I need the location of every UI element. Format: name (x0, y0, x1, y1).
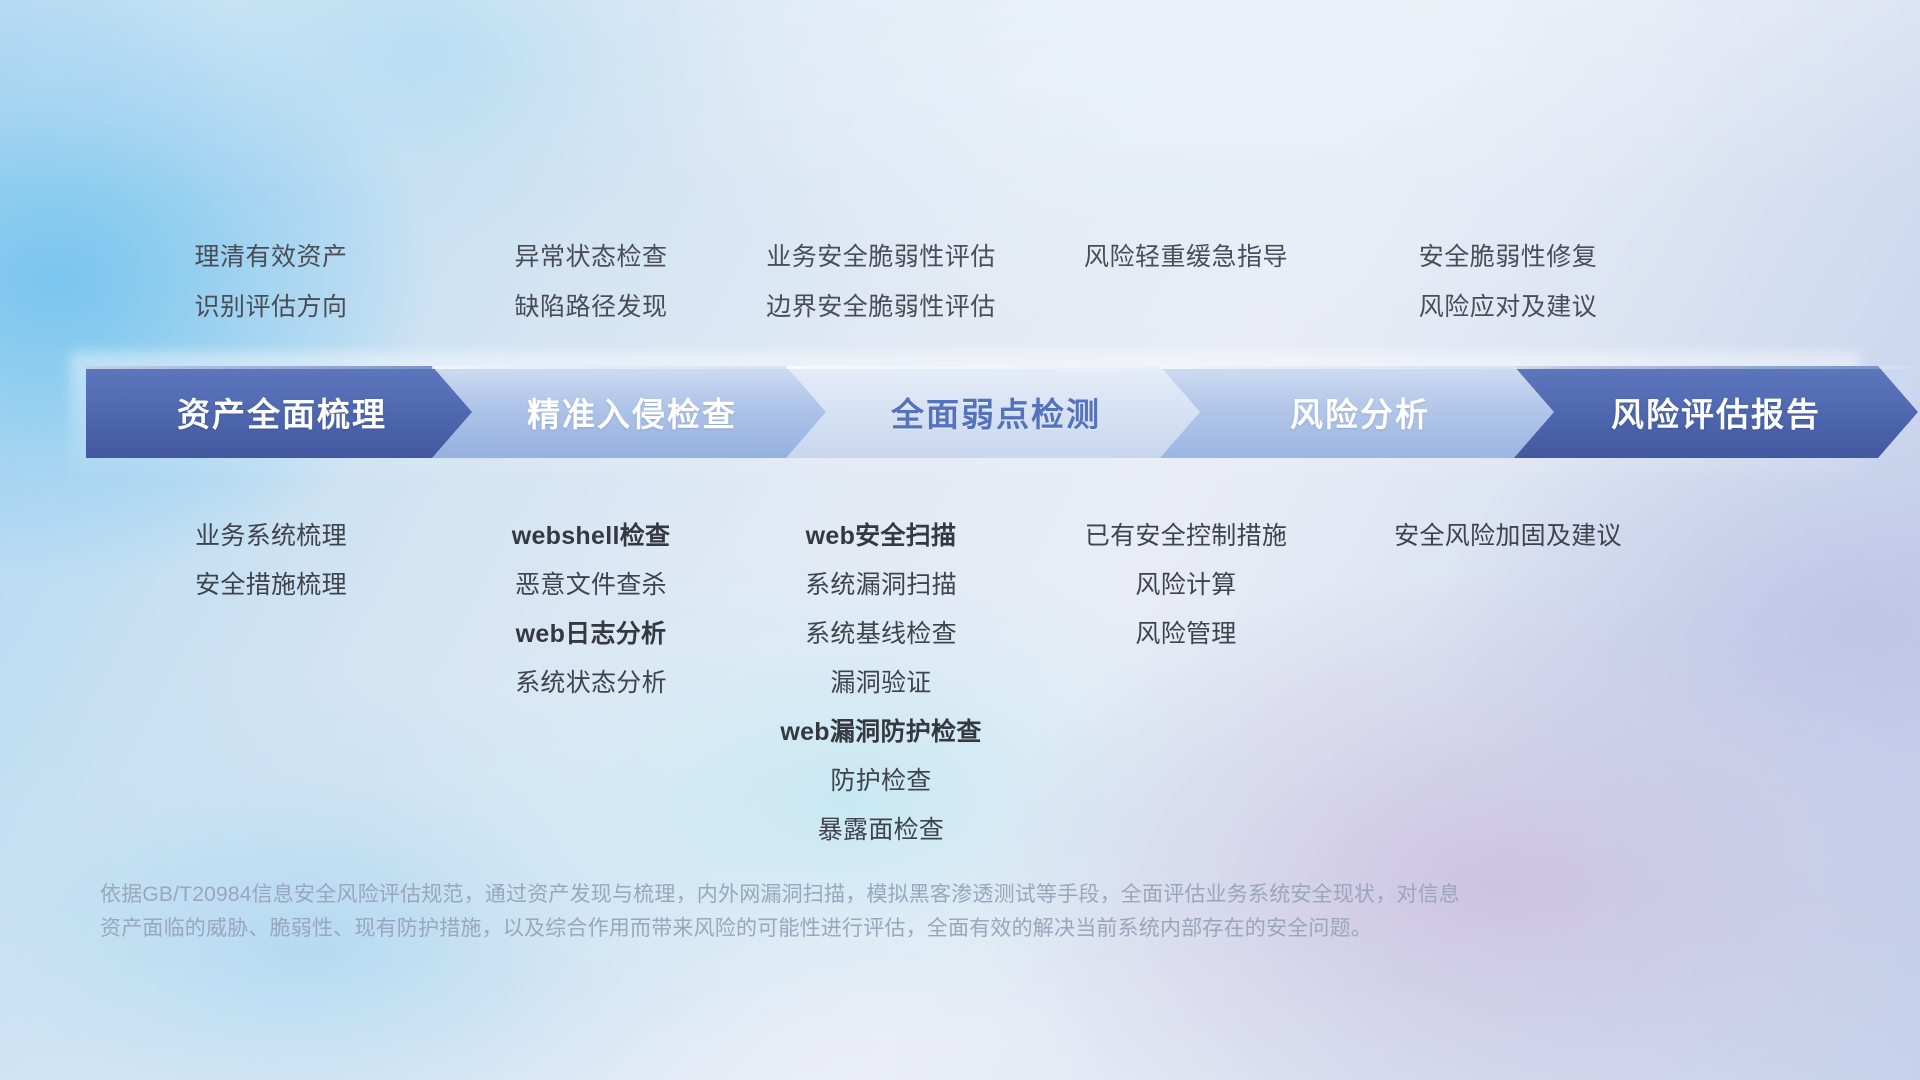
footer-line-2: 资产面临的威胁、脆弱性、现有防护措施，以及综合作用而带来风险的可能性进行评估，全… (100, 912, 1760, 946)
stage-arrow-label: 风险分析 (1290, 388, 1430, 436)
output-label: 安全风险加固及建议 (1346, 512, 1670, 561)
stage-arrow-1[interactable]: 资产全面梳理 (86, 366, 478, 458)
output-label: 业务系统梳理 (96, 512, 446, 561)
stage-arrow-label: 精准入侵检查 (527, 388, 737, 436)
stage-outputs-4: 已有安全控制措施 风险计算 风险管理 (1026, 512, 1346, 659)
stage-inputs-2: 异常状态检查 缺陷路径发现 (446, 232, 736, 332)
stage-arrow-2[interactable]: 精准入侵检查 (432, 366, 832, 458)
output-label: web漏洞防护检查 (736, 708, 1026, 757)
stage-outputs-1: 业务系统梳理 安全措施梳理 (96, 512, 446, 610)
output-label: 风险计算 (1026, 561, 1346, 610)
stage-inputs-5: 安全脆弱性修复 风险应对及建议 (1346, 232, 1670, 332)
process-arrow-ribbon: 资产全面梳理 精准入侵检查 全面弱点检测 风险分析 风险评估报告 (86, 366, 1838, 458)
stage-outputs-5: 安全风险加固及建议 (1346, 512, 1670, 561)
output-label: 恶意文件查杀 (446, 561, 736, 610)
arrow-highlight (1514, 366, 1918, 369)
stage-outputs-row: 业务系统梳理 安全措施梳理 webshell检查 恶意文件查杀 web日志分析 … (96, 512, 1870, 855)
input-label: 异常状态检查 (446, 232, 736, 282)
input-label: 风险应对及建议 (1346, 282, 1670, 332)
input-label: 风险轻重缓急指导 (1026, 232, 1346, 282)
output-label: 系统基线检查 (736, 610, 1026, 659)
arrow-highlight (1160, 366, 1560, 369)
arrow-highlight (432, 366, 832, 369)
stage-inputs-row: 理清有效资产 识别评估方向 异常状态检查 缺陷路径发现 业务安全脆弱性评估 边界… (96, 232, 1870, 332)
footer-description: 依据GB/T20984信息安全风险评估规范，通过资产发现与梳理，内外网漏洞扫描，… (100, 878, 1760, 946)
output-label: 系统状态分析 (446, 659, 736, 708)
stage-arrow-3[interactable]: 全面弱点检测 (786, 366, 1206, 458)
arrow-highlight (86, 366, 478, 369)
output-label: 暴露面检查 (736, 806, 1026, 855)
stage-arrow-4[interactable]: 风险分析 (1160, 366, 1560, 458)
stage-arrow-label: 资产全面梳理 (177, 388, 387, 436)
stage-outputs-3: web安全扫描 系统漏洞扫描 系统基线检查 漏洞验证 web漏洞防护检查 防护检… (736, 512, 1026, 855)
footer-line-1: 依据GB/T20984信息安全风险评估规范，通过资产发现与梳理，内外网漏洞扫描，… (100, 878, 1760, 912)
stage-inputs-3: 业务安全脆弱性评估 边界安全脆弱性评估 (736, 232, 1026, 332)
stage-inputs-1: 理清有效资产 识别评估方向 (96, 232, 446, 332)
input-label: 业务安全脆弱性评估 (736, 232, 1026, 282)
input-label: 边界安全脆弱性评估 (736, 282, 1026, 332)
output-label: 安全措施梳理 (96, 561, 446, 610)
stage-arrow-label: 风险评估报告 (1611, 388, 1821, 436)
output-label: 已有安全控制措施 (1026, 512, 1346, 561)
input-label: 安全脆弱性修复 (1346, 232, 1670, 282)
output-label: 风险管理 (1026, 610, 1346, 659)
stage-arrow-label: 全面弱点检测 (891, 388, 1101, 436)
output-label: webshell检查 (446, 512, 736, 561)
input-label: 缺陷路径发现 (446, 282, 736, 332)
slide-canvas: 理清有效资产 识别评估方向 异常状态检查 缺陷路径发现 业务安全脆弱性评估 边界… (0, 0, 1920, 1080)
output-label: 漏洞验证 (736, 659, 1026, 708)
input-label: 理清有效资产 (96, 232, 446, 282)
output-label: web安全扫描 (736, 512, 1026, 561)
arrow-highlight (786, 366, 1206, 369)
stage-outputs-2: webshell检查 恶意文件查杀 web日志分析 系统状态分析 (446, 512, 736, 708)
stage-arrow-5[interactable]: 风险评估报告 (1514, 366, 1918, 458)
output-label: web日志分析 (446, 610, 736, 659)
output-label: 防护检查 (736, 757, 1026, 806)
output-label: 系统漏洞扫描 (736, 561, 1026, 610)
stage-inputs-4: 风险轻重缓急指导 (1026, 232, 1346, 332)
input-label: 识别评估方向 (96, 282, 446, 332)
